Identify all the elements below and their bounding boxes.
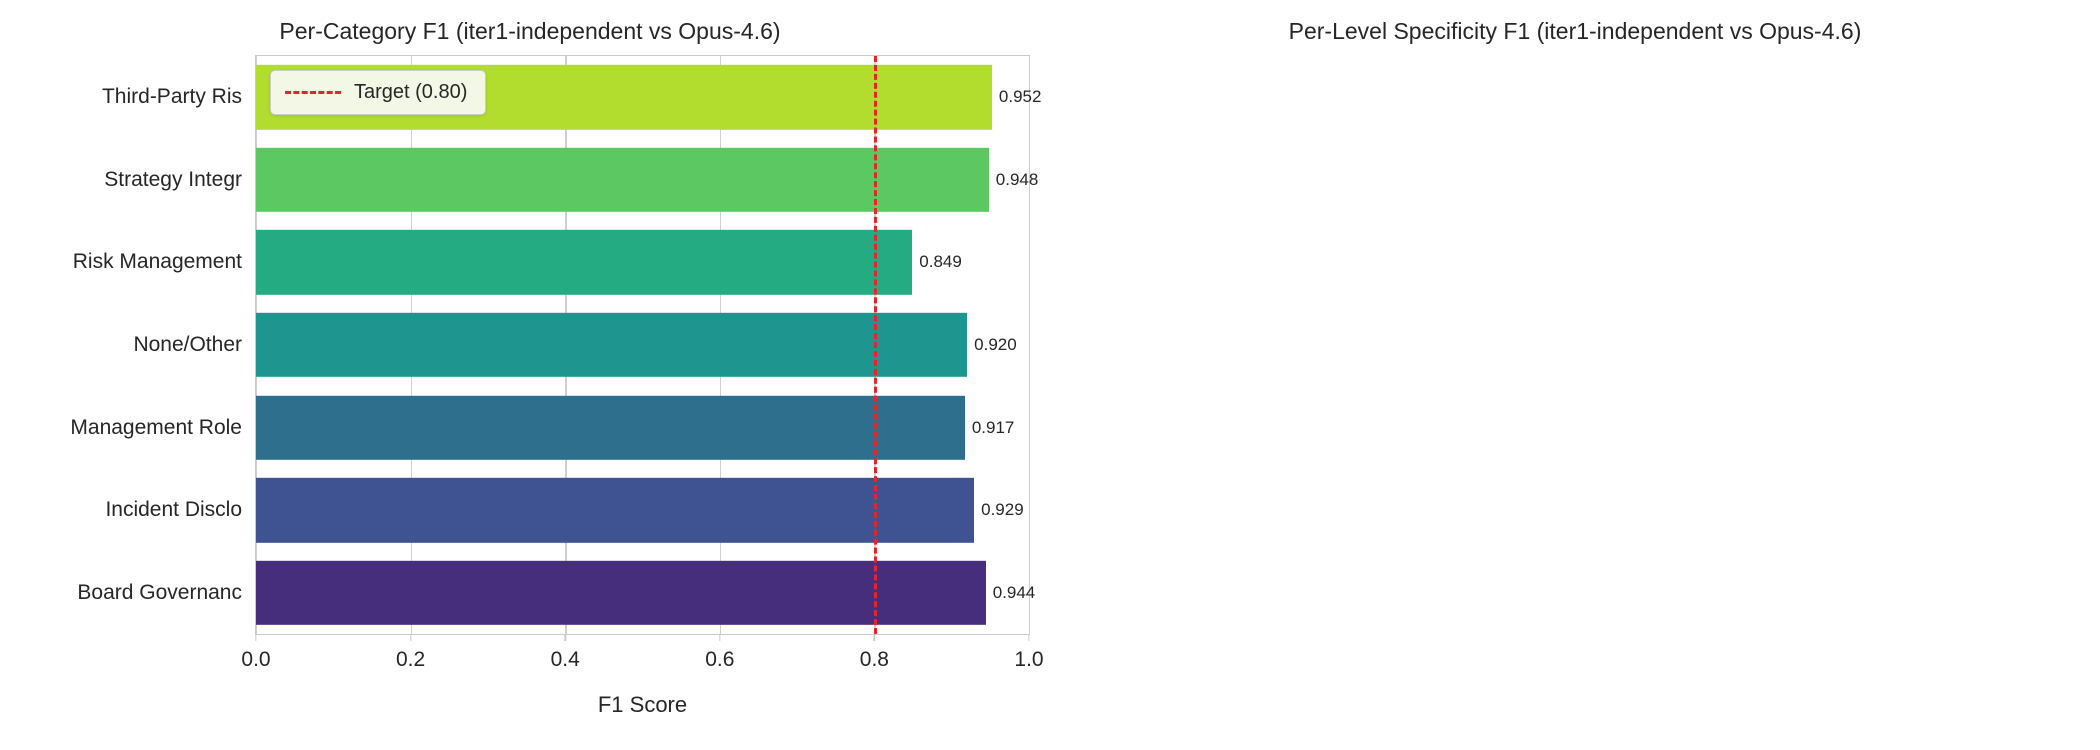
x-tick-mark — [564, 634, 565, 641]
x-axis-title-per-category: F1 Score — [256, 692, 1029, 718]
y-axis-category-label: Incident Disclo — [105, 498, 242, 522]
bar-row[interactable]: Management Role0.917 — [256, 386, 1029, 469]
x-tick-label: 0.0 — [241, 648, 270, 672]
bar-group-per-category: Third-Party Ris0.952Strategy Integr0.948… — [256, 56, 1029, 634]
x-tick-mark — [410, 634, 411, 641]
bar-row[interactable]: Risk Management0.849 — [256, 221, 1029, 304]
bar-row[interactable]: Incident Disclo0.929 — [256, 469, 1029, 552]
x-tick-mark — [874, 634, 875, 641]
dashed-line-icon — [285, 91, 341, 94]
bar-value-label: 0.944 — [993, 583, 1036, 603]
bar[interactable] — [256, 313, 967, 377]
panel-title-per-level: Per-Level Specificity F1 (iter1-independ… — [1080, 18, 2070, 45]
bar[interactable] — [256, 478, 974, 542]
figure-canvas: Per-Category F1 (iter1-independent vs Op… — [0, 0, 2100, 750]
y-axis-category-label: Third-Party Ris — [102, 85, 242, 109]
bar-row[interactable]: None/Other0.920 — [256, 304, 1029, 387]
bar-row[interactable]: Board Governanc0.944 — [256, 551, 1029, 634]
y-axis-category-label: Management Role — [70, 416, 242, 440]
y-axis-category-label: None/Other — [133, 333, 242, 357]
x-tick-label: 0.4 — [551, 648, 580, 672]
x-tick-label: 1.0 — [1014, 648, 1043, 672]
bar-row[interactable]: Strategy Integr0.948 — [256, 139, 1029, 222]
bar-value-label: 0.948 — [996, 170, 1039, 190]
x-axis-ticks-per-category: 0.00.20.40.60.81.0 — [256, 634, 1029, 674]
x-tick-label: 0.8 — [860, 648, 889, 672]
bar-value-label: 0.917 — [972, 418, 1015, 438]
y-axis-category-label: Board Governanc — [77, 581, 242, 605]
y-axis-category-label: Risk Management — [73, 250, 242, 274]
bar[interactable] — [256, 148, 989, 212]
bar-value-label: 0.929 — [981, 500, 1024, 520]
x-tick-mark — [255, 634, 256, 641]
bar[interactable] — [256, 395, 965, 459]
y-axis-category-label: Strategy Integr — [104, 168, 242, 192]
chart-panel-per-category: Per-Category F1 (iter1-independent vs Op… — [0, 0, 1050, 750]
bar-value-label: 0.849 — [919, 252, 962, 272]
panel-title-per-category: Per-Category F1 (iter1-independent vs Op… — [40, 18, 1020, 45]
legend-label-target: Target (0.80) — [354, 81, 467, 104]
target-line-per-category — [874, 56, 877, 634]
x-tick-mark — [719, 634, 720, 641]
x-tick-label: 0.2 — [396, 648, 425, 672]
bar[interactable] — [256, 230, 912, 294]
legend-per-category[interactable]: Target (0.80) — [270, 70, 486, 115]
plot-area-per-category: Third-Party Ris0.952Strategy Integr0.948… — [255, 55, 1030, 635]
x-tick-mark — [1028, 634, 1029, 641]
bar-value-label: 0.920 — [974, 335, 1017, 355]
x-tick-label: 0.6 — [705, 648, 734, 672]
bar-value-label: 0.952 — [999, 87, 1042, 107]
gridline — [1029, 56, 1030, 634]
chart-panel-per-level: Per-Level Specificity F1 (iter1-independ… — [1050, 0, 2100, 750]
